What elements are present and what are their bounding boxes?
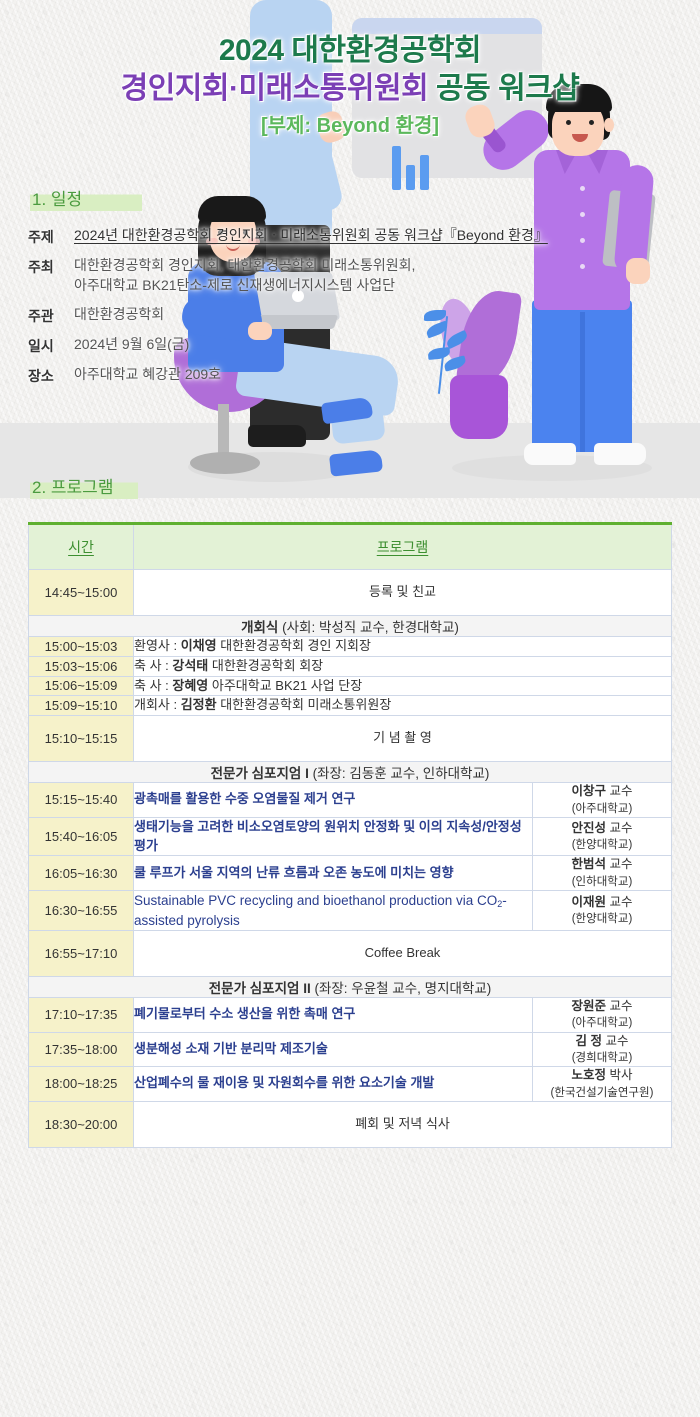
info-row: 장소 아주대학교 혜강관 209호 [28, 365, 668, 386]
title-line-2: 경인지회·미래소통위원회 공동 워크샵 [0, 72, 700, 106]
cell-time: 15:15~15:40 [29, 783, 134, 818]
cell-program: Coffee Break [134, 931, 672, 977]
cell-time: 16:55~17:10 [29, 931, 134, 977]
info-value: 2024년 대한환경공학회 경인지회ㆍ미래소통위원회 공동 워크샵『Beyond… [74, 226, 548, 246]
speech-person-name: 이채영 [181, 638, 217, 653]
table-body: 14:45~15:00 등록 및 친교 개회식 (사회: 박성직 교수, 한경대… [29, 570, 672, 1148]
shirt-button [580, 212, 585, 217]
cell-time: 16:05~16:30 [29, 856, 134, 891]
info-key: 주최 [28, 256, 74, 277]
speech-person-title: 대한환경공학회 경인 지회장 [217, 638, 371, 653]
speaker-role: 박사 [606, 1068, 632, 1082]
table-row: 17:35~18:00 생분해성 소재 기반 분리막 제조기술 김 정 교수 (… [29, 1032, 672, 1067]
table-row: 18:30~20:00 폐회 및 저녁 식사 [29, 1101, 672, 1147]
cell-program: 환영사 : 이채영 대한환경공학회 경인 지회장 [134, 636, 672, 656]
info-value: 대한환경공학회 경인지회, 대한환경공학회 미래소통위원회, 아주대학교 BK2… [74, 256, 415, 296]
cell-talk-title: 생분해성 소재 기반 분리막 제조기술 [134, 1032, 533, 1067]
speaker-role: 교수 [606, 857, 632, 871]
table-row: 16:30~16:55 Sustainable PVC recycling an… [29, 890, 672, 930]
cell-program: 축 사 : 강석태 대한환경공학회 회장 [134, 656, 672, 676]
info-key: 주제 [28, 226, 74, 247]
cell-time: 17:35~18:00 [29, 1032, 134, 1067]
person-standing-shoe-right [594, 443, 646, 465]
cell-time: 15:03~15:06 [29, 656, 134, 676]
table-row: 15:03~15:06 축 사 : 강석태 대한환경공학회 회장 [29, 656, 672, 676]
speaker-affiliation: (경희대학교) [533, 1050, 671, 1066]
table-row: 15:15~15:40 광촉매를 활용한 수중 오염물질 제거 연구 이창구 교… [29, 783, 672, 818]
cell-speaker: 한범석 교수 (인하대학교) [533, 856, 672, 891]
cell-time: 18:30~20:00 [29, 1101, 134, 1147]
cell-time: 17:10~17:35 [29, 997, 134, 1032]
talk-title-pre: Sustainable PVC recycling and bioethanol… [134, 893, 497, 908]
info-row: 일시 2024년 9월 6일(금) [28, 335, 668, 356]
chart-bar-3 [420, 155, 429, 190]
schedule-info-list: 주제 2024년 대한환경공학회 경인지회ㆍ미래소통위원회 공동 워크샵『Bey… [28, 226, 668, 395]
whiteboard-header-bar [352, 18, 542, 34]
cell-talk-title: 생태기능을 고려한 비소오염토양의 원위치 안정화 및 이의 지속성/안정성 평… [134, 817, 533, 856]
info-key: 장소 [28, 365, 74, 386]
cell-speaker: 이재원 교수 (한양대학교) [533, 890, 672, 930]
title-line-1: 2024 대한환경공학회 [0, 34, 700, 68]
section-header-chair: (좌장: 우윤철 교수, 명지대학교) [311, 981, 492, 996]
table-row: 15:00~15:03 환영사 : 이채영 대한환경공학회 경인 지회장 [29, 636, 672, 656]
table-row: 16:55~17:10 Coffee Break [29, 931, 672, 977]
table-row: 16:05~16:30 쿨 루프가 서울 지역의 난류 흐름과 오존 농도에 미… [29, 856, 672, 891]
cell-time: 16:30~16:55 [29, 890, 134, 930]
cell-talk-title: 광촉매를 활용한 수중 오염물질 제거 연구 [134, 783, 533, 818]
speaker-role: 교수 [606, 784, 632, 798]
speech-label: 축 사 : [134, 658, 172, 673]
chart-bar-2 [406, 165, 415, 190]
section-header-title: 개회식 [241, 620, 278, 635]
cell-time: 15:00~15:03 [29, 636, 134, 656]
speaker-role: 교수 [602, 1034, 628, 1048]
speech-label: 개회사 : [134, 697, 181, 712]
speech-person-title: 아주대학교 BK21 사업 단장 [208, 678, 362, 693]
cell-time: 15:40~16:05 [29, 817, 134, 856]
program-table: 시간 프로그램 14:45~15:00 등록 및 친교 개회식 (사회: 박성직… [28, 522, 672, 1148]
info-value: 2024년 9월 6일(금) [74, 335, 189, 355]
speech-person-title: 대한환경공학회 회장 [208, 658, 323, 673]
info-row: 주제 2024년 대한환경공학회 경인지회ㆍ미래소통위원회 공동 워크샵『Bey… [28, 226, 668, 247]
chart-bar-1 [392, 146, 401, 190]
speaker-role: 교수 [606, 821, 632, 835]
section-header-chair: (좌장: 김동훈 교수, 인하대학교) [309, 766, 490, 781]
cell-talk-title: Sustainable PVC recycling and bioethanol… [134, 890, 533, 930]
cell-time: 15:10~15:15 [29, 716, 134, 762]
info-value: 대한환경공학회 [74, 305, 164, 325]
title-line-2-green: 공동 워크샵 [428, 72, 579, 105]
speech-person-name: 김정환 [181, 697, 217, 712]
cell-time: 15:06~15:09 [29, 676, 134, 696]
info-row: 주최 대한환경공학회 경인지회, 대한환경공학회 미래소통위원회, 아주대학교 … [28, 256, 668, 296]
cell-program: 등록 및 친교 [134, 570, 672, 616]
section-2-label: 2. 프로그램 [30, 472, 138, 499]
cell-speaker: 김 정 교수 (경희대학교) [533, 1032, 672, 1067]
person-standing-shoe-left [524, 443, 576, 465]
cell-talk-title: 폐기물로부터 수소 생산을 위한 촉매 연구 [134, 997, 533, 1032]
speaker-role: 교수 [606, 999, 632, 1013]
table-row: 17:10~17:35 폐기물로부터 수소 생산을 위한 촉매 연구 장원준 교… [29, 997, 672, 1032]
cell-program: 축 사 : 장혜영 아주대학교 BK21 사업 단장 [134, 676, 672, 696]
table-row: 18:00~18:25 산업폐수의 물 재이용 및 자원회수를 위한 요소기술 … [29, 1067, 672, 1102]
cell-time: 18:00~18:25 [29, 1067, 134, 1102]
info-key: 일시 [28, 335, 74, 356]
speaker-affiliation: (한국건설기술연구원) [533, 1085, 671, 1101]
column-header-time: 시간 [29, 524, 134, 570]
speech-person-name: 강석태 [172, 658, 208, 673]
section-header-chair: (사회: 박성직 교수, 한경대학교) [278, 620, 459, 635]
speaker-affiliation: (인하대학교) [533, 874, 671, 890]
cell-time: 14:45~15:00 [29, 570, 134, 616]
speaker-name: 김 정 [576, 1034, 602, 1048]
section-header-title: 전문가 심포지엄 II [209, 981, 311, 996]
speaker-name: 안진성 [572, 821, 607, 835]
cell-speaker: 이창구 교수 (아주대학교) [533, 783, 672, 818]
person-seated-fringe [198, 196, 266, 222]
speaker-affiliation: (아주대학교) [533, 801, 671, 817]
table-row: 15:09~15:10 개회사 : 김정환 대한환경공학회 미래소통위원장 [29, 696, 672, 716]
speaker-name: 노호정 [572, 1068, 607, 1082]
speech-label: 축 사 : [134, 678, 172, 693]
table-row: 15:10~15:15 기 념 촬 영 [29, 716, 672, 762]
speaker-name: 한범석 [572, 857, 607, 871]
speaker-name: 장원준 [572, 999, 607, 1013]
cell-program: 폐회 및 저녁 식사 [134, 1101, 672, 1147]
table-row-section-header: 개회식 (사회: 박성직 교수, 한경대학교) [29, 615, 672, 636]
speaker-affiliation: (아주대학교) [533, 1015, 671, 1031]
cell-speaker: 노호정 박사 (한국건설기술연구원) [533, 1067, 672, 1102]
office-chair-base [190, 452, 260, 474]
person-presenter-shoe [248, 425, 306, 447]
cell-program: 기 념 촬 영 [134, 716, 672, 762]
cell-speaker: 안진성 교수 (한양대학교) [533, 817, 672, 856]
cell-section-header: 전문가 심포지엄 II (좌장: 우윤철 교수, 명지대학교) [29, 976, 672, 997]
speech-person-name: 장혜영 [172, 678, 208, 693]
poster-title-block: 2024 대한환경공학회 경인지회·미래소통위원회 공동 워크샵 [부제: Be… [0, 34, 700, 138]
table-row-section-header: 전문가 심포지엄 I (좌장: 김동훈 교수, 인하대학교) [29, 762, 672, 783]
cell-section-header: 전문가 심포지엄 I (좌장: 김동훈 교수, 인하대학교) [29, 762, 672, 783]
cell-speaker: 장원준 교수 (아주대학교) [533, 997, 672, 1032]
speaker-affiliation: (한양대학교) [533, 837, 671, 853]
cell-time: 15:09~15:10 [29, 696, 134, 716]
title-line-2-purple: 경인지회·미래소통위원회 [121, 72, 429, 105]
speech-label: 환영사 : [134, 638, 181, 653]
speaker-role: 교수 [606, 895, 632, 909]
cell-talk-title: 쿨 루프가 서울 지역의 난류 흐름과 오존 농도에 미치는 영향 [134, 856, 533, 891]
title-subtitle: [부제: Beyond 환경] [0, 115, 700, 137]
column-header-program: 프로그램 [134, 524, 672, 570]
speaker-name: 이창구 [572, 784, 607, 798]
table-row: 15:06~15:09 축 사 : 장혜영 아주대학교 BK21 사업 단장 [29, 676, 672, 696]
talk-title-subscript: 2 [497, 899, 502, 909]
info-row: 주관 대한환경공학회 [28, 305, 668, 326]
table-row-section-header: 전문가 심포지엄 II (좌장: 우윤철 교수, 명지대학교) [29, 976, 672, 997]
section-1-label: 1. 일정 [30, 184, 142, 211]
cell-talk-title: 산업폐수의 물 재이용 및 자원회수를 위한 요소기술 개발 [134, 1067, 533, 1102]
info-value: 아주대학교 혜강관 209호 [74, 365, 221, 385]
section-header-title: 전문가 심포지엄 I [211, 766, 309, 781]
shirt-button [580, 186, 585, 191]
table-row: 15:40~16:05 생태기능을 고려한 비소오염토양의 원위치 안정화 및 … [29, 817, 672, 856]
speaker-affiliation: (한양대학교) [533, 911, 671, 927]
speaker-name: 이재원 [572, 895, 607, 909]
info-key: 주관 [28, 305, 74, 326]
cell-program: 개회사 : 김정환 대한환경공학회 미래소통위원장 [134, 696, 672, 716]
table-row: 14:45~15:00 등록 및 친교 [29, 570, 672, 616]
cell-section-header: 개회식 (사회: 박성직 교수, 한경대학교) [29, 615, 672, 636]
table-header-row: 시간 프로그램 [29, 524, 672, 570]
speech-person-title: 대한환경공학회 미래소통위원장 [217, 697, 392, 712]
